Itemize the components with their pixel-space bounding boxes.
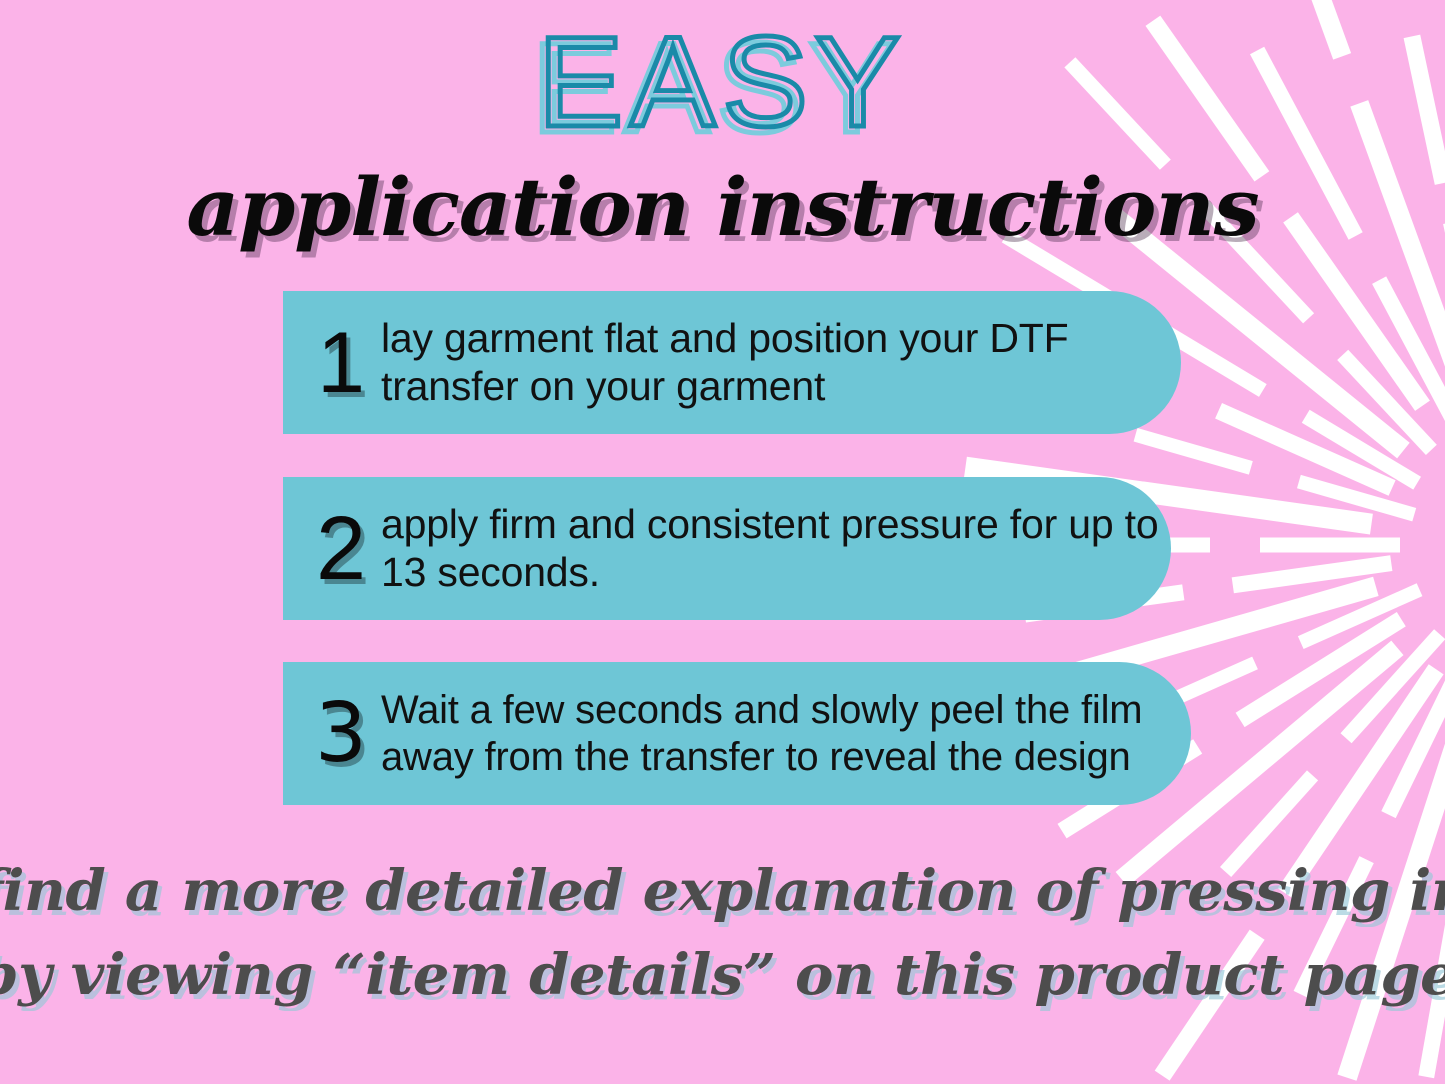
subtitle-application-instructions: application instructions — [0, 160, 1445, 254]
step-item-2: 2 apply firm and consistent pressure for… — [283, 477, 1171, 620]
footer-note: find a more detailed explanation of pres… — [0, 858, 1445, 1008]
footer-line-2: by viewing “item details” on this produc… — [0, 942, 1445, 1008]
step-item-1: 1 lay garment flat and position your DTF… — [283, 291, 1181, 434]
step-number-3: 3 — [309, 693, 373, 775]
easy-title: EASY — [0, 16, 1445, 150]
step-item-3: 3 Wait a few seconds and slowly peel the… — [283, 662, 1191, 805]
poster-canvas: EASY EASY application instructions 1 lay… — [0, 0, 1445, 1084]
step-number-1: 1 — [309, 320, 373, 406]
step-text-2: apply firm and consistent pressure for u… — [381, 501, 1171, 596]
footer-line-1: find a more detailed explanation of pres… — [0, 858, 1445, 924]
step-text-1: lay garment flat and position your DTF t… — [381, 315, 1181, 410]
step-number-2: 2 — [309, 504, 373, 594]
step-text-3: Wait a few seconds and slowly peel the f… — [381, 687, 1191, 780]
